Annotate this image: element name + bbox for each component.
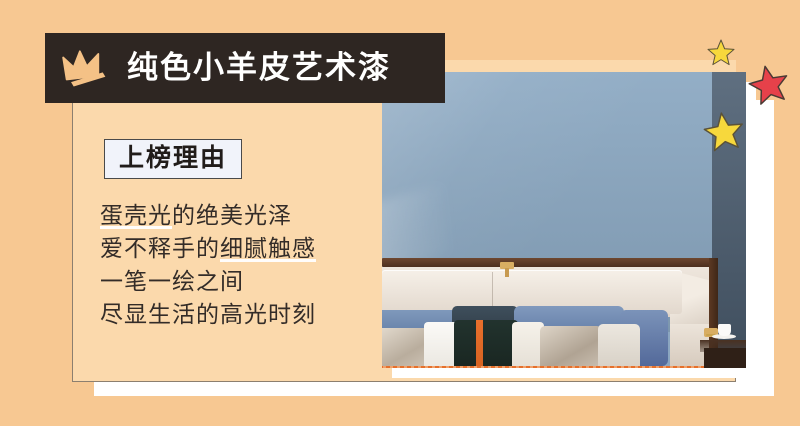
pillow-green: [454, 320, 518, 368]
copy-line-2-prefix: 爱不释手的: [100, 236, 220, 262]
headboard-wood-frame-top: [382, 258, 718, 267]
poster-canvas: 纯色小羊皮艺术漆 上榜理由 蛋壳光的绝美光泽 爱不释手的细腻触感 一笔一绘之间 …: [0, 0, 800, 426]
reason-badge: 上榜理由: [104, 139, 242, 179]
brass-bracket-pin: [505, 268, 509, 277]
pillow-orange-stripe: [476, 320, 483, 368]
star-small-yellow-icon: [706, 38, 736, 68]
title-banner: 纯色小羊皮艺术漆: [45, 33, 445, 103]
copy-line-1-highlight: 蛋壳光: [100, 203, 172, 229]
pillow-satin-right: [540, 326, 602, 368]
star-large-yellow-icon: [702, 110, 746, 154]
banner-title: 纯色小羊皮艺术漆: [127, 53, 391, 84]
pillow-white-right: [598, 324, 640, 368]
nightstand-body: [704, 348, 746, 368]
reason-copy: 蛋壳光的绝美光泽 爱不释手的细腻触感 一笔一绘之间 尽显生活的高光时刻: [100, 200, 380, 332]
bedroom-photo: [382, 72, 746, 368]
reason-badge-label: 上榜理由: [119, 145, 227, 171]
copy-line-4: 尽显生活的高光时刻: [100, 299, 380, 332]
copy-line-1-rest: 的绝美光泽: [172, 203, 292, 229]
coffee-cup: [718, 324, 731, 336]
star-red-icon: [747, 63, 791, 107]
pillow-white-left: [424, 322, 458, 368]
crown-icon: [59, 46, 113, 90]
copy-line-2: 爱不释手的细腻触感: [100, 233, 380, 266]
copy-line-1: 蛋壳光的绝美光泽: [100, 200, 380, 233]
copy-line-3: 一笔一绘之间: [100, 266, 380, 299]
copy-line-2-highlight: 细腻触感: [220, 236, 316, 262]
